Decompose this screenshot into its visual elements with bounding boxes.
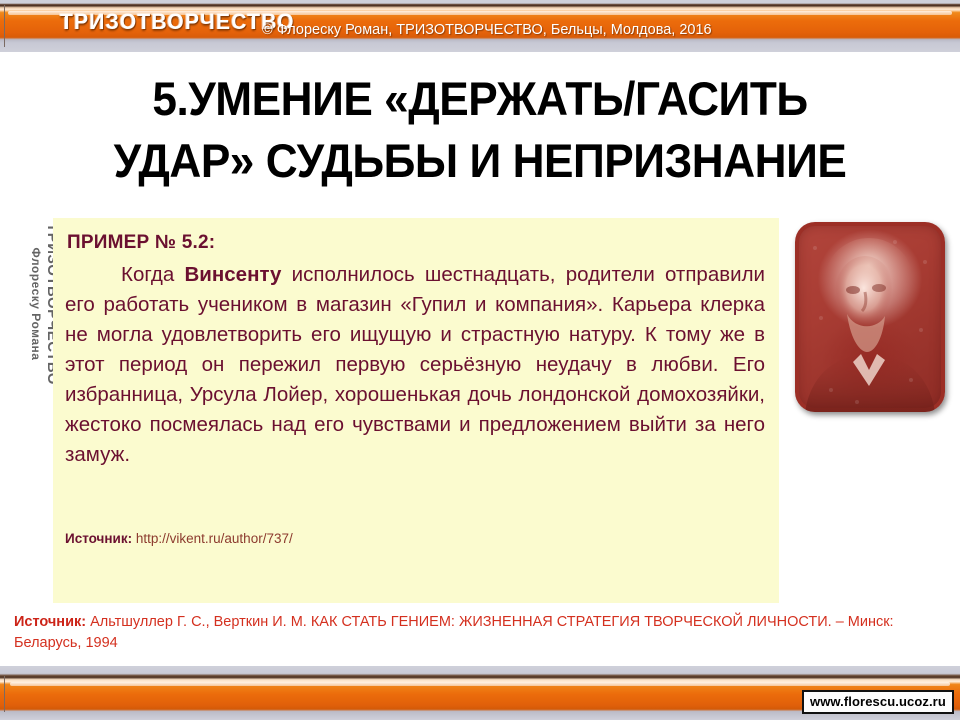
footer-highlight bbox=[10, 682, 950, 686]
inner-source-label: Источник: bbox=[65, 531, 132, 546]
site-url-badge[interactable]: www.florescu.ucoz.ru bbox=[802, 690, 954, 714]
vertical-watermark-line-2: Флореску Романа bbox=[29, 164, 43, 444]
example-paragraph: Когда Винсенту исполнилось шестнадцать, … bbox=[65, 260, 769, 470]
example-label: ПРИМЕР № 5.2: bbox=[67, 232, 769, 254]
paragraph-segment-2: исполнилось шестнадцать, родители отправ… bbox=[65, 263, 765, 466]
page-title-line-1: 5.УМЕНИЕ «ДЕРЖАТЬ/ГАСИТЬ bbox=[152, 72, 807, 125]
bottom-source-text: Альтшуллер Г. С., Верткин И. М. КАК СТАТ… bbox=[14, 614, 894, 651]
paragraph-bold-name: Винсенту bbox=[184, 263, 281, 286]
bottom-source-label: Источник: bbox=[14, 614, 86, 630]
paragraph-segment-1: Когда bbox=[121, 263, 184, 286]
example-textbox: ПРИМЕР № 5.2: Когда Винсенту исполнилось… bbox=[53, 218, 779, 603]
banner-title: ТРИЗОТВОРЧЕСТВО bbox=[60, 9, 295, 35]
inner-source-url[interactable]: http://vikent.ru/author/737/ bbox=[136, 531, 293, 546]
footer-copyright: © Флореску Роман, ТРИЗОТВОРЧЕСТВО, Бельц… bbox=[262, 22, 712, 38]
inner-source: Источник: http://vikent.ru/author/737/ bbox=[65, 531, 293, 546]
page-title: 5.УМЕНИЕ «ДЕРЖАТЬ/ГАСИТЬ УДАР» СУДЬБЫ И … bbox=[48, 68, 913, 192]
slide: ТРИЗОТВОРЧЕСТВО 5.УМЕНИЕ «ДЕРЖАТЬ/ГАСИТЬ… bbox=[0, 0, 960, 720]
portrait-illustration bbox=[795, 222, 945, 412]
portrait-van-gogh bbox=[795, 222, 945, 412]
bottom-source: Источник: Альтшуллер Г. С., Верткин И. М… bbox=[14, 612, 944, 654]
page-title-line-2: УДАР» СУДЬБЫ И НЕПРИЗНАНИЕ bbox=[48, 130, 913, 192]
